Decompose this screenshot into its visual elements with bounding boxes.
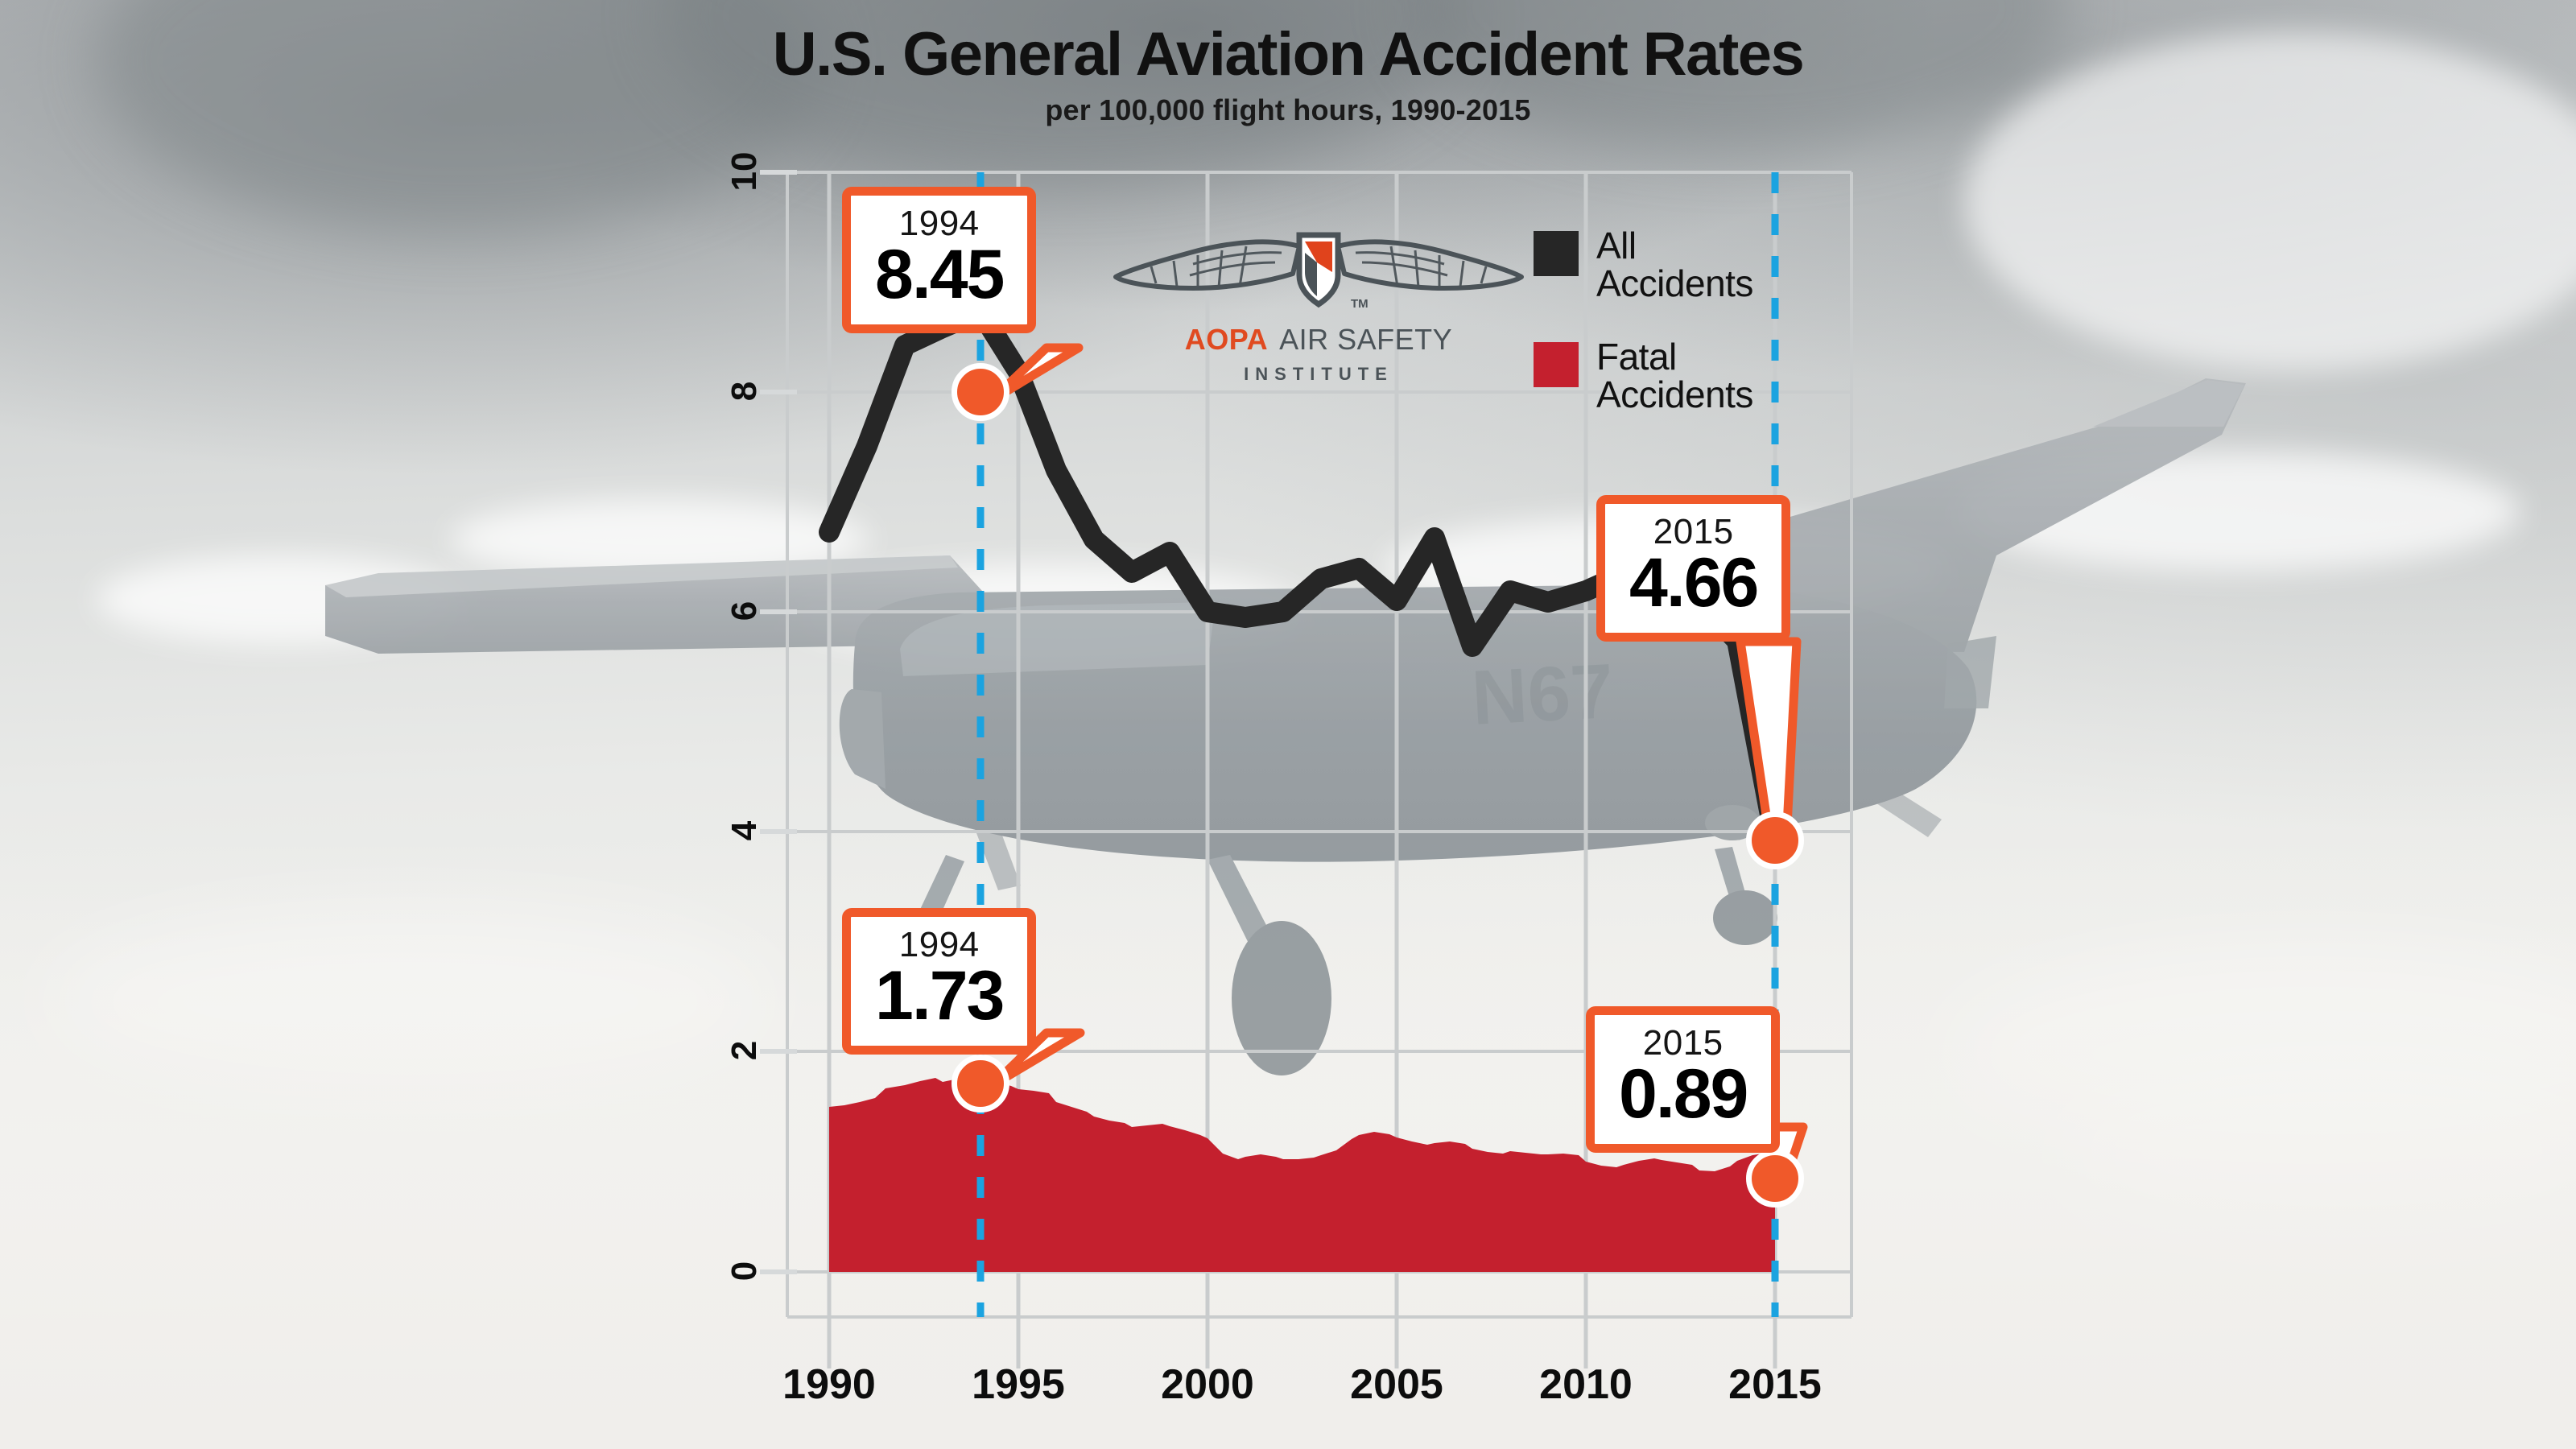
callout-1994-fatal-accidents[interactable]: 1994 1.73 (842, 908, 1036, 1055)
callout-dot-2015-all-accidents[interactable] (1746, 811, 1804, 869)
page-subtitle: per 100,000 flight hours, 1990-2015 (0, 93, 2576, 127)
legend-swatch-all-accidents (1534, 231, 1579, 276)
legend-label-fatal-accidents-line2: Accidents (1596, 376, 1753, 414)
y-tick-label-2: 2 (724, 1014, 765, 1087)
callout-2015-all-accidents-value: 4.66 (1629, 549, 1757, 617)
callout-dot-1994-all-accidents[interactable] (952, 363, 1009, 421)
aopa-wordmark: AOPAAIR SAFETY (1109, 323, 1528, 357)
aopa-brand-text: AOPA (1185, 323, 1268, 356)
legend-item-all-accidents[interactable]: All Accidents (1534, 227, 1753, 303)
aopa-air-safety-institute-logo: TM AOPAAIR SAFETY INSTITUTE (1109, 217, 1528, 385)
x-tick-label-2010: 2010 (1497, 1360, 1674, 1409)
callout-2015-all-accidents[interactable]: 2015 4.66 (1596, 495, 1790, 642)
legend-swatch-fatal-accidents (1534, 342, 1579, 387)
legend-label-fatal-accidents: Fatal Accidents (1596, 338, 1753, 414)
header: U.S. General Aviation Accident Rates per… (0, 23, 2576, 127)
x-tick-label-2000: 2000 (1119, 1360, 1296, 1409)
x-tick-label-2015: 2015 (1686, 1360, 1864, 1409)
y-tick-label-10: 10 (724, 135, 765, 208)
callout-2015-fatal-accidents-value: 0.89 (1619, 1060, 1747, 1128)
callout-1994-all-accidents[interactable]: 1994 8.45 (842, 187, 1036, 333)
legend-label-all-accidents: All Accidents (1596, 227, 1753, 303)
chart-legend: All Accidents Fatal Accidents (1534, 227, 1753, 449)
callout-2015-all-accidents-box: 2015 4.66 (1596, 495, 1790, 642)
legend-label-fatal-accidents-line1: Fatal (1596, 338, 1753, 376)
svg-text:TM: TM (1351, 297, 1368, 311)
y-tick-label-4: 4 (724, 795, 765, 867)
legend-label-all-accidents-line1: All (1596, 227, 1753, 265)
y-tick-label-8: 8 (724, 355, 765, 427)
legend-label-all-accidents-line2: Accidents (1596, 265, 1753, 303)
callout-1994-fatal-accidents-value: 1.73 (875, 962, 1003, 1030)
x-tick-label-1995: 1995 (930, 1360, 1107, 1409)
callout-dot-2015-fatal-accidents[interactable] (1746, 1150, 1804, 1207)
x-tick-label-2005: 2005 (1308, 1360, 1485, 1409)
legend-item-fatal-accidents[interactable]: Fatal Accidents (1534, 338, 1753, 414)
page-title: U.S. General Aviation Accident Rates (0, 23, 2576, 87)
callout-dot-1994-fatal-accidents[interactable] (952, 1055, 1009, 1113)
x-tick-label-1990: 1990 (741, 1360, 918, 1409)
callout-2015-fatal-accidents[interactable]: 2015 0.89 (1586, 1006, 1780, 1153)
aopa-brand-rest-text: AIR SAFETY (1279, 323, 1452, 356)
callout-1994-fatal-accidents-box: 1994 1.73 (842, 908, 1036, 1055)
y-tick-label-0: 0 (724, 1235, 765, 1307)
aopa-institute-text: INSTITUTE (1109, 364, 1528, 385)
y-tick-label-6: 6 (724, 575, 765, 647)
aopa-wings-shield-icon: TM (1109, 217, 1528, 314)
callout-1994-all-accidents-box: 1994 8.45 (842, 187, 1036, 333)
callout-1994-all-accidents-value: 8.45 (875, 241, 1003, 308)
callout-2015-fatal-accidents-box: 2015 0.89 (1586, 1006, 1780, 1153)
